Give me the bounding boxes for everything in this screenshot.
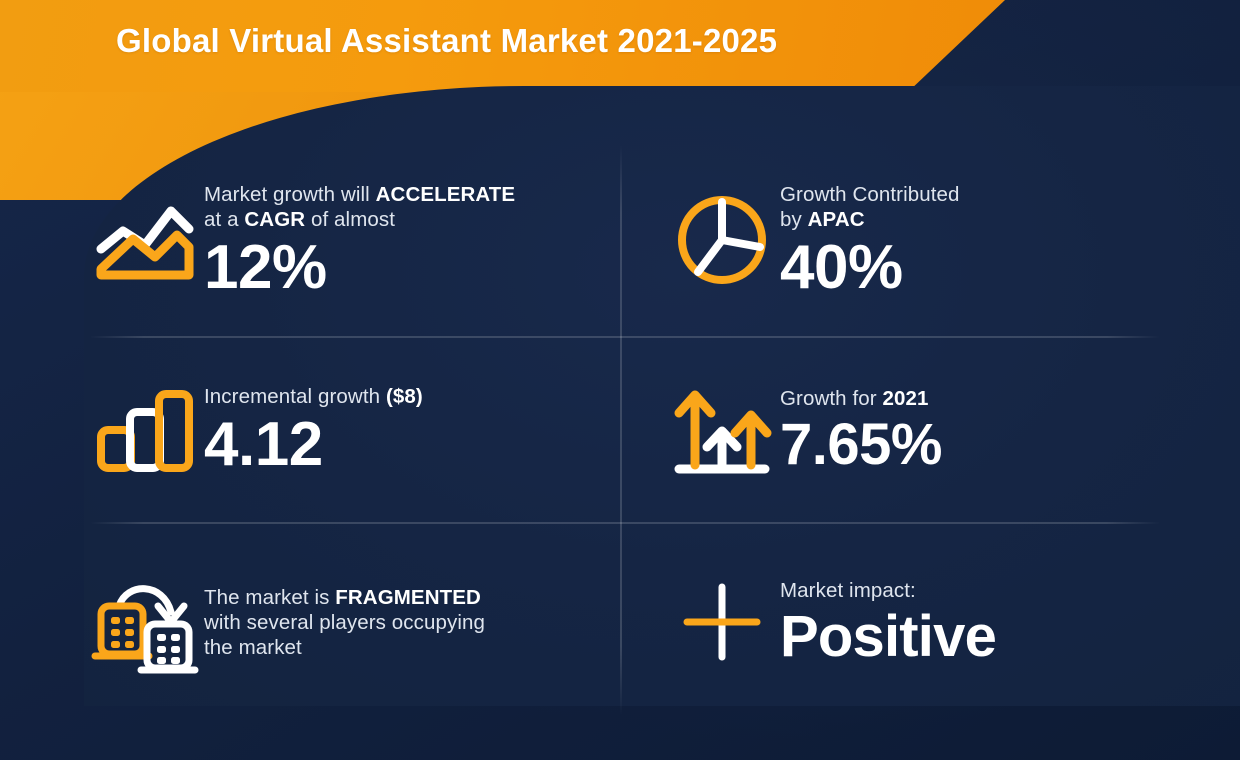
caption-bold: ($8) — [386, 385, 423, 408]
caption-text: Market impact: — [780, 579, 916, 602]
stat-caption-cagr: Market growth will ACCELERATE at a CAGR … — [204, 182, 606, 232]
stat-cell-market-impact: Market impact: Positive — [664, 532, 1184, 712]
stat-value-market-impact: Positive — [780, 608, 1184, 666]
caption-text: of almost — [305, 208, 395, 231]
up-arrows-icon — [664, 383, 780, 477]
grid-horizontal-divider-1 — [90, 336, 1160, 338]
stat-value-apac: 40% — [780, 237, 1184, 299]
stat-text-apac: Growth Contributed by APAC 40% — [780, 182, 1184, 299]
caption-bold: 2021 — [883, 387, 929, 410]
stat-text-cagr: Market growth will ACCELERATE at a CAGR … — [204, 182, 606, 299]
buildings-transfer-icon — [86, 568, 204, 676]
caption-bold: APAC — [808, 208, 865, 231]
plus-icon — [664, 575, 780, 669]
stat-cell-growth-2021: Growth for 2021 7.65% — [664, 342, 1184, 518]
grid-vertical-divider — [620, 145, 622, 715]
stats-grid: Market growth will ACCELERATE at a CAGR … — [0, 92, 1240, 760]
stat-value-cagr: 12% — [204, 237, 606, 299]
stat-cell-incremental-growth: Incremental growth ($8) 4.12 — [86, 342, 606, 518]
pie-chart-icon — [664, 192, 780, 288]
caption-text: with several players occupying — [204, 611, 485, 634]
stat-cell-apac: Growth Contributed by APAC 40% — [664, 150, 1184, 330]
caption-text: at a — [204, 208, 244, 231]
stat-caption-incremental-growth: Incremental growth ($8) — [204, 384, 606, 409]
bar-chart-icon — [86, 386, 204, 474]
stat-caption-apac: Growth Contributed by APAC — [780, 182, 1184, 232]
caption-bold: ACCELERATE — [376, 183, 516, 206]
caption-bold: FRAGMENTED — [335, 586, 481, 609]
caption-bold: CAGR — [244, 208, 305, 231]
caption-text: by — [780, 208, 808, 231]
stat-value-incremental-growth: 4.12 — [204, 414, 606, 476]
page-title: Global Virtual Assistant Market 2021-202… — [116, 22, 777, 60]
area-chart-icon — [86, 197, 204, 283]
stat-caption-market-impact: Market impact: — [780, 578, 1184, 603]
stat-text-fragmentation: The market is FRAGMENTED with several pl… — [204, 585, 606, 660]
stat-text-growth-2021: Growth for 2021 7.65% — [780, 386, 1184, 474]
stat-text-incremental-growth: Incremental growth ($8) 4.12 — [204, 384, 606, 476]
infographic-root: Global Virtual Assistant Market 2021-202… — [0, 0, 1240, 760]
stat-text-market-impact: Market impact: Positive — [780, 578, 1184, 666]
caption-text: Growth Contributed — [780, 183, 960, 206]
caption-text: Market growth will — [204, 183, 376, 206]
stat-caption-growth-2021: Growth for 2021 — [780, 386, 1184, 411]
caption-text: the market — [204, 636, 302, 659]
stat-cell-cagr: Market growth will ACCELERATE at a CAGR … — [86, 150, 606, 330]
caption-text: The market is — [204, 586, 335, 609]
grid-horizontal-divider-2 — [90, 522, 1160, 524]
caption-text: Incremental growth — [204, 385, 386, 408]
stat-caption-fragmentation: The market is FRAGMENTED with several pl… — [204, 585, 606, 660]
stat-value-growth-2021: 7.65% — [780, 416, 1184, 474]
caption-text: Growth for — [780, 387, 883, 410]
stat-cell-fragmentation: The market is FRAGMENTED with several pl… — [86, 532, 606, 712]
